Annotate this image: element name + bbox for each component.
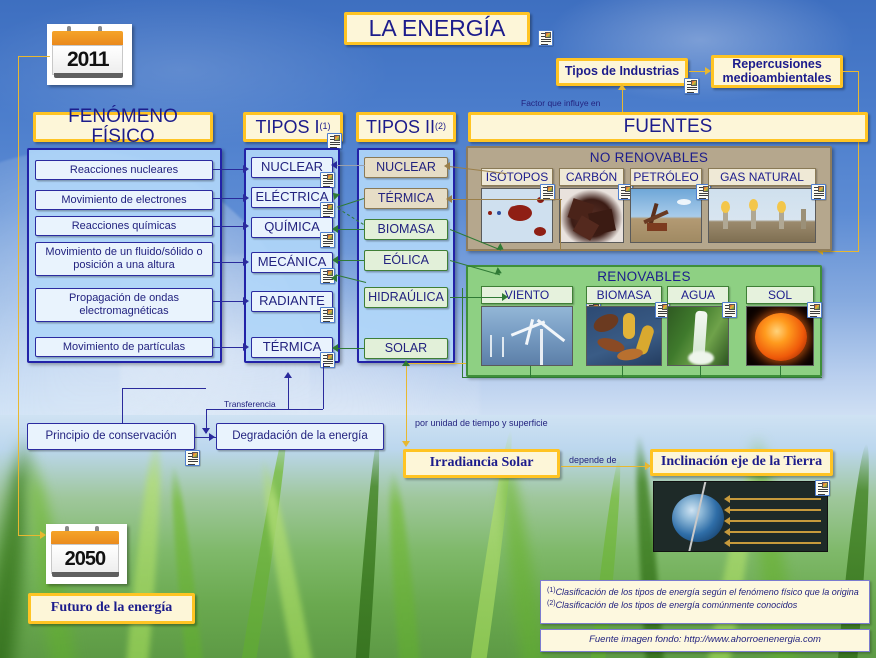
page-title: LA ENERGÍA <box>344 12 530 45</box>
thumbnail-petroleo <box>630 188 702 243</box>
arrow-transferencia-down <box>202 428 210 434</box>
tipos2-item-0[interactable]: NUCLEAR <box>364 157 448 178</box>
tipos1-item-3-label: MECÁNICA <box>258 255 327 270</box>
document-icon-gas-natural[interactable] <box>811 184 826 200</box>
arrow-t2-eolica <box>332 256 338 264</box>
document-icon-sol[interactable] <box>807 302 822 318</box>
page-title-text: LA ENERGÍA <box>369 16 506 40</box>
repercusiones-line1: Repercusiones <box>732 58 822 71</box>
fenomeno-item-1-label: Movimiento de electrones <box>61 194 186 207</box>
connector-fenomeno-4 <box>213 301 245 302</box>
connector-fenomeno-3 <box>213 262 245 263</box>
arrow-fenomeno-2 <box>243 222 249 230</box>
connector-repercusiones-in <box>843 71 859 72</box>
connector-agua-down <box>700 366 701 378</box>
arrow-fuentes-industrias <box>618 84 626 90</box>
degradacion-energia-label: Degradación de la energía <box>232 430 368 443</box>
source-label-sol-text: SOL <box>768 288 792 302</box>
document-icon-inclinacion[interactable] <box>815 480 830 496</box>
fenomeno-item-1[interactable]: Movimiento de electrones <box>35 190 213 210</box>
fenomeno-item-5[interactable]: Movimiento de partículas <box>35 337 213 357</box>
tipos1-item-4-label: RADIANTE <box>259 294 325 309</box>
connector-repercusiones-left <box>823 251 859 252</box>
fenomeno-item-0[interactable]: Reacciones nucleares <box>35 160 213 180</box>
connector-tipos1-down <box>323 363 324 409</box>
connector-timeline-vertical <box>18 56 19 536</box>
tipos2-item-2-label: BIOMASA <box>378 222 435 236</box>
fenomeno-item-2-label: Reacciones químicas <box>72 220 177 233</box>
tipos2-item-5-label: SOLAR <box>385 341 427 355</box>
arrow-t2-solar <box>332 344 338 352</box>
arrow-irradiancia <box>402 441 410 447</box>
arrow-t2-nuclear-t1 <box>331 161 337 169</box>
connector-irradiancia-inclinacion <box>561 466 649 467</box>
inclinacion-eje-box[interactable]: Inclinación eje de la Tierra <box>650 449 833 476</box>
header-tipos-1-label: TIPOS I <box>255 118 319 137</box>
arrow-industrias-repercusiones <box>705 67 711 75</box>
connector-2011-left <box>18 56 50 57</box>
connector-renov-left-h <box>462 377 822 378</box>
connector-termica-hook-v <box>560 199 561 251</box>
connector-termica-hook-h <box>452 199 562 200</box>
fenomeno-item-4-label: Propagación de ondas electromagnéticas <box>39 292 209 317</box>
document-icon-tipos1-2[interactable] <box>320 232 335 248</box>
thumbnail-sol <box>746 306 814 366</box>
source-label-sol[interactable]: SOL <box>746 286 814 304</box>
por-unidad-label: por unidad de tiempo y superficie <box>415 418 548 428</box>
connector-t2-biomasa <box>338 229 364 230</box>
source-credit-box: Fuente imagen fondo: http://www.ahorroen… <box>540 629 870 652</box>
degradacion-energia-box[interactable]: Degradación de la energía <box>216 423 384 450</box>
fenomeno-item-2[interactable]: Reacciones químicas <box>35 216 213 236</box>
source-label-viento[interactable]: VIENTO <box>481 286 573 304</box>
thumbnail-carbon <box>559 188 624 243</box>
connector-fenomeno-2 <box>213 226 245 227</box>
arrow-into-solar <box>402 360 410 366</box>
source-label-carbon[interactable]: CARBÓN <box>559 168 624 186</box>
calendar-2050-year: 2050 <box>65 548 106 571</box>
header-fenomeno-fisico: FENÓMENO FÍSICO <box>33 112 213 142</box>
document-icon-agua[interactable] <box>722 302 737 318</box>
header-tipos-2: TIPOS II(2) <box>356 112 456 142</box>
tipos2-item-0-label: NUCLEAR <box>376 160 436 174</box>
connector-termica-up-v <box>288 377 289 409</box>
connector-viento-down <box>530 366 531 378</box>
footnote-1-marker: (1) <box>547 586 556 595</box>
arrow-fenomeno-5 <box>243 343 249 351</box>
footnote-2-marker: (2) <box>547 599 556 608</box>
tipos2-item-3-label: EÓLICA <box>383 253 429 267</box>
document-icon-principio[interactable] <box>185 450 200 466</box>
thumbnail-agua <box>667 306 729 366</box>
futuro-energia-label: Futuro de la energía <box>51 601 172 616</box>
arrow-fenomeno-4 <box>243 297 249 305</box>
arrow-nuclear-isotopos <box>444 162 450 170</box>
principio-conservacion-box[interactable]: Principio de conservación <box>27 423 195 450</box>
connector-left-feed-h <box>122 388 206 389</box>
tipos-industrias-label: Tipos de Industrias <box>565 65 679 78</box>
header-fuentes-label: FUENTES <box>624 117 713 137</box>
arrow-fenomeno-3 <box>243 258 249 266</box>
thumbnail-earth-tilt <box>653 481 828 552</box>
arrow-termica-up <box>284 372 292 378</box>
factor-influye-label: Factor que influye en <box>521 98 600 108</box>
connector-biomasa-down <box>622 366 623 378</box>
thumbnail-viento <box>481 306 573 366</box>
arrow-termica-fuentes <box>446 195 452 203</box>
arrow-hidraulica-src <box>502 293 508 301</box>
tipos2-item-2[interactable]: BIOMASA <box>364 219 448 240</box>
connector-termica-base <box>466 250 826 251</box>
calendar-2011-year: 2011 <box>67 48 109 72</box>
header-fuentes: FUENTES <box>468 112 868 142</box>
footnote-1-text: Clasificación de los tipos de energía se… <box>556 586 859 598</box>
header-tipos-2-label: TIPOS II <box>366 118 435 137</box>
arrow-t2-biomasa <box>332 225 338 233</box>
connector-sol-down <box>780 366 781 378</box>
fenomeno-item-4[interactable]: Propagación de ondas electromagnéticas <box>35 288 213 322</box>
arrow-principio-degradacion <box>209 433 215 441</box>
tipos-industrias-box[interactable]: Tipos de Industrias <box>556 58 688 86</box>
document-icon-title[interactable] <box>538 30 553 46</box>
connector-t2-eolica <box>338 260 364 261</box>
document-icon-tipos1-4[interactable] <box>320 307 335 323</box>
depende-de-label: depende de <box>569 455 617 465</box>
thumbnail-gas-natural <box>708 188 816 243</box>
transferencia-label: Transferencia <box>224 399 276 409</box>
source-label-carbon-text: CARBÓN <box>566 170 617 184</box>
tipos2-item-3[interactable]: EÓLICA <box>364 250 448 271</box>
tipos2-item-1[interactable]: TÉRMICA <box>364 188 448 209</box>
header-tipos-2-superscript: (2) <box>435 122 446 131</box>
connector-transferencia-h <box>206 409 323 410</box>
fenomeno-item-5-label: Movimiento de partículas <box>63 341 185 354</box>
futuro-energia-box[interactable]: Futuro de la energía <box>28 593 195 624</box>
tipos2-item-1-label: TÉRMICA <box>378 191 434 205</box>
source-label-petroleo-text: PETRÓLEO <box>633 170 698 184</box>
arrow-fenomeno-0 <box>243 165 249 173</box>
inclinacion-eje-label: Inclinación eje de la Tierra <box>661 455 822 470</box>
fenomeno-item-3[interactable]: Movimiento de un fluido/sólido o posició… <box>35 242 213 276</box>
tipos2-item-4[interactable]: HIDRAÚLICA <box>364 287 448 308</box>
fenomeno-item-0-label: Reacciones nucleares <box>70 164 178 177</box>
source-label-viento-text: VIENTO <box>505 288 549 302</box>
document-icon-tipos1-1[interactable] <box>320 202 335 218</box>
renovables-title: RENOVABLES <box>466 269 822 284</box>
document-icon-industrias[interactable] <box>684 78 699 94</box>
arrow-t2-hidraulica <box>331 274 337 282</box>
irradiancia-solar-label: Irradiancia Solar <box>430 456 534 471</box>
connector-fenomeno-0 <box>213 169 245 170</box>
document-icon-isotopos[interactable] <box>540 184 555 200</box>
header-tipos-1-superscript: (1) <box>320 122 331 131</box>
source-label-agua[interactable]: AGUA <box>667 286 729 304</box>
footnotes-box: (1) Clasificación de los tipos de energí… <box>540 580 870 624</box>
tipos1-item-1-label: ELÉCTRICA <box>256 190 329 205</box>
calendar-2011: 2011 <box>47 24 132 85</box>
connector-t2-nuclear-t1 <box>334 165 365 166</box>
connector-renov-left-v <box>462 288 463 378</box>
connector-solar-top <box>406 363 466 364</box>
connector-sol-irradiancia-v1 <box>406 363 407 443</box>
document-icon-tipos1-0[interactable] <box>320 172 335 188</box>
tipos2-item-4-label: HIDRAÚLICA <box>368 290 444 304</box>
connector-fenomeno-5 <box>213 347 245 348</box>
thumbnail-biomasa <box>586 306 662 366</box>
source-label-agua-text: AGUA <box>681 288 715 302</box>
tipos2-item-5[interactable]: SOLAR <box>364 338 448 359</box>
source-label-biomasa[interactable]: BIOMASA <box>586 286 662 304</box>
source-label-gas-natural[interactable]: GAS NATURAL <box>708 168 816 186</box>
irradiancia-solar-box[interactable]: Irradiancia Solar <box>403 449 560 478</box>
connector-left-feed-v <box>122 388 123 424</box>
calendar-2050: 2050 <box>46 524 127 584</box>
no-renovables-title: NO RENOVABLES <box>466 150 832 165</box>
repercusiones-box[interactable]: Repercusiones medioambientales <box>711 55 843 88</box>
principio-conservacion-label: Principio de conservación <box>45 430 176 443</box>
connector-repercusiones-down <box>858 72 859 252</box>
arrow-fenomeno-1 <box>243 194 249 202</box>
infographic-canvas: LA ENERGÍA Tipos de Industrias Repercusi… <box>0 0 876 658</box>
connector-2050-in <box>18 535 42 536</box>
footnote-2-text: Clasificación de los tipos de energía co… <box>556 599 798 611</box>
document-icon-tipos-1[interactable] <box>327 133 342 149</box>
connector-t2-solar <box>338 348 364 349</box>
header-fenomeno-fisico-label: FENÓMENO FÍSICO <box>36 107 210 147</box>
source-credit-text: Fuente imagen fondo: http://www.ahorroen… <box>589 634 821 647</box>
connector-fenomeno-1 <box>213 198 245 199</box>
connector-hidraulica-src <box>450 297 506 298</box>
source-label-biomasa-text: BIOMASA <box>597 288 652 302</box>
fenomeno-item-3-label: Movimiento de un fluido/sólido o posició… <box>39 246 209 271</box>
source-label-gas-natural-text: GAS NATURAL <box>720 170 804 184</box>
tipos1-item-0-label: NUCLEAR <box>261 160 323 175</box>
tipos1-item-5-label: TÉRMICA <box>263 340 322 355</box>
repercusiones-line2: medioambientales <box>722 72 831 85</box>
source-label-petroleo[interactable]: PETRÓLEO <box>630 168 702 186</box>
tipos1-item-2-label: QUÍMICA <box>264 220 320 235</box>
